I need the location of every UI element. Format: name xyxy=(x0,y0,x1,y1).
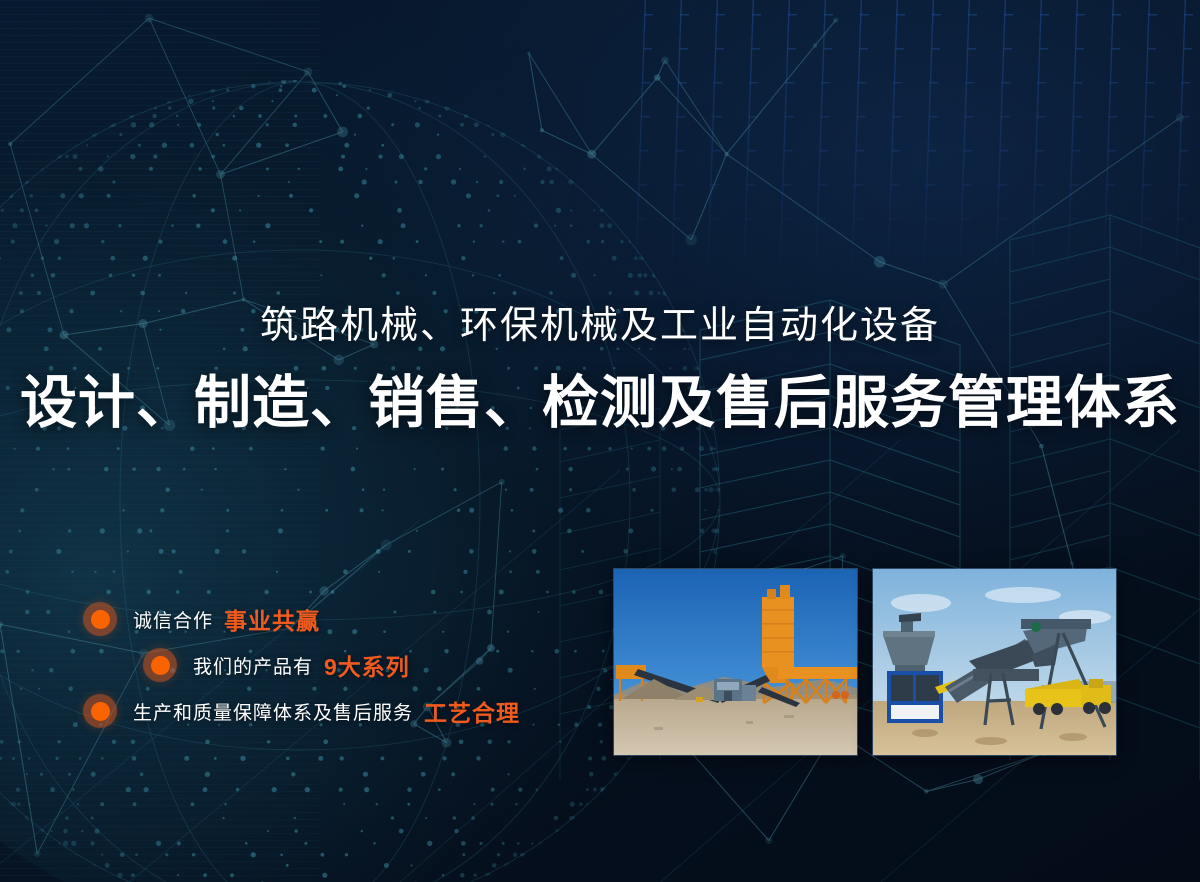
feature-label: 生产和质量保障体系及售后服务 xyxy=(133,698,413,725)
banner-subtitle: 筑路机械、环保机械及工业自动化设备 xyxy=(0,303,1200,349)
hero-banner: 筑路机械、环保机械及工业自动化设备 设计、制造、销售、检测及售后服务管理体系 诚… xyxy=(0,0,1200,882)
feature-accent: 9大系列 xyxy=(324,648,410,682)
feature-label: 我们的产品有 xyxy=(193,652,313,679)
feature-item-1: 诚信合作 事业共赢 xyxy=(0,596,520,642)
feature-accent: 工艺合理 xyxy=(424,694,520,728)
concrete-batching-plant-photo xyxy=(613,568,858,756)
feature-label: 诚信合作 xyxy=(133,606,213,633)
feature-accent: 事业共赢 xyxy=(224,602,320,636)
mobile-batching-plant-photo xyxy=(872,568,1117,756)
banner-headline: 设计、制造、销售、检测及售后服务管理体系 xyxy=(0,369,1200,437)
bullet-dot-icon xyxy=(143,648,177,682)
feature-list: 诚信合作 事业共赢 我们的产品有 9大系列 生产和质量保障体系及售后服务 工艺合… xyxy=(0,596,520,734)
feature-item-2: 我们的产品有 9大系列 xyxy=(0,642,520,688)
bullet-dot-icon xyxy=(83,602,117,636)
feature-item-3: 生产和质量保障体系及售后服务 工艺合理 xyxy=(0,688,520,734)
photo-gallery xyxy=(613,568,1117,756)
banner-content: 筑路机械、环保机械及工业自动化设备 设计、制造、销售、检测及售后服务管理体系 诚… xyxy=(0,0,1200,882)
bullet-dot-icon xyxy=(83,694,117,728)
